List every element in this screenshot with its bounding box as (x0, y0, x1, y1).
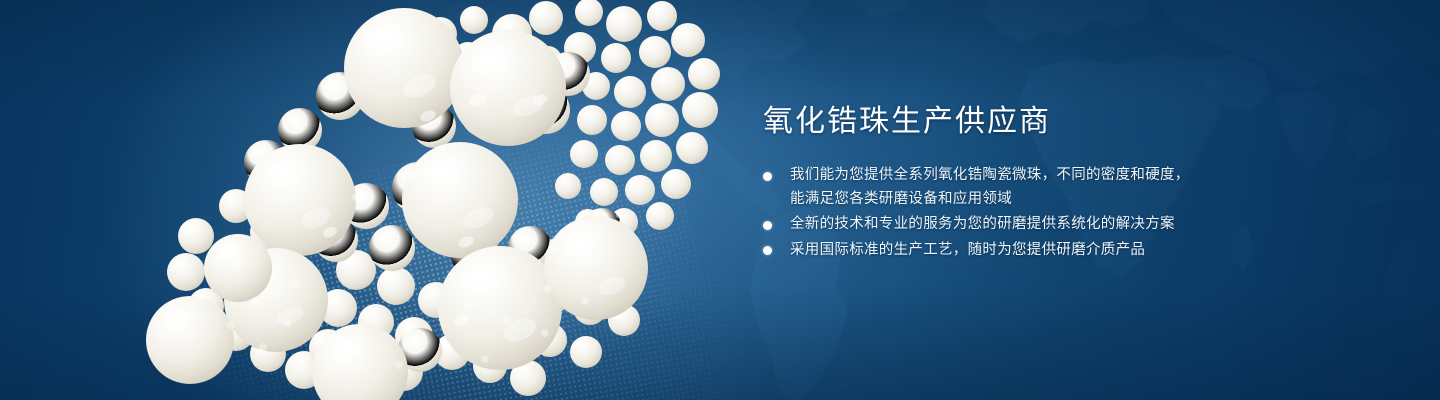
bullet-2-line-1: 全新的技术和专业的服务为您的研磨提供系统化的解决方案 (790, 216, 1175, 232)
banner-headline: 氧化锆珠生产供应商 (763, 102, 1383, 142)
bullet-1-line-1: 我们能为您提供全系列氧化锆陶瓷微珠，不同的密度和硬度， (790, 167, 1190, 183)
bullet-3-line-1: 采用国际标准的生产工艺，随时为您提供研磨介质产品 (790, 242, 1145, 258)
bullet-1-line-2: 能满足您各类研磨设备和应用领域 (790, 188, 1383, 212)
bullet-item-3: 采用国际标准的生产工艺，随时为您提供研磨介质产品 (763, 239, 1383, 263)
bullet-item-1: 我们能为您提供全系列氧化锆陶瓷微珠，不同的密度和硬度， 能满足您各类研磨设备和应… (763, 164, 1383, 211)
bullet-item-2: 全新的技术和专业的服务为您的研磨提供系统化的解决方案 (763, 213, 1383, 237)
hero-banner: 氧化锆珠生产供应商 我们能为您提供全系列氧化锆陶瓷微珠，不同的密度和硬度， 能满… (0, 0, 1440, 400)
bullet-dot-icon (763, 221, 772, 230)
bullet-dot-icon (763, 172, 772, 181)
banner-copy: 氧化锆珠生产供应商 我们能为您提供全系列氧化锆陶瓷微珠，不同的密度和硬度， 能满… (763, 102, 1383, 264)
bullet-dot-icon (763, 246, 772, 255)
banner-bullet-list: 我们能为您提供全系列氧化锆陶瓷微珠，不同的密度和硬度， 能满足您各类研磨设备和应… (763, 164, 1383, 262)
